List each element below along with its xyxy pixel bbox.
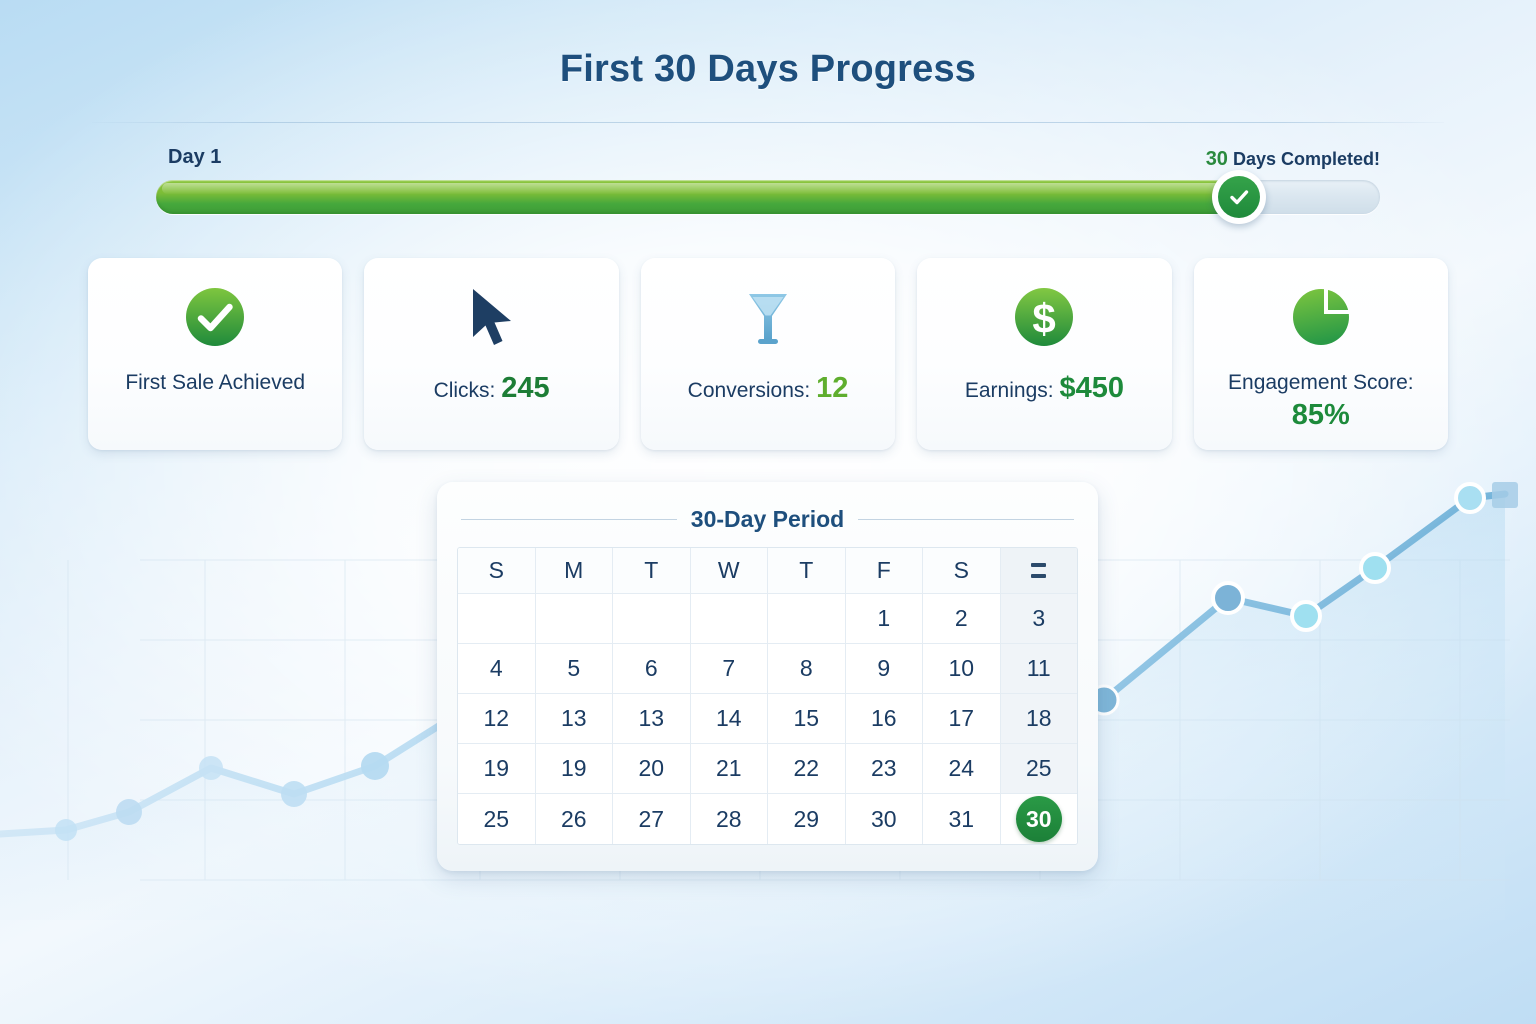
stat-card-label: First Sale Achieved <box>125 371 305 394</box>
stat-card-engagement[interactable]: Engagement Score: 85% <box>1194 258 1448 450</box>
calendar-day-cell[interactable]: 17 <box>923 694 1001 744</box>
weekday-header-extra <box>1001 548 1078 594</box>
weekday-header: M <box>536 548 614 594</box>
progress-track[interactable] <box>156 180 1380 214</box>
calendar-title: 30-Day Period <box>691 506 844 533</box>
calendar-day-cell[interactable]: 9 <box>846 644 924 694</box>
calendar-day-cell[interactable]: 2 <box>923 594 1001 644</box>
calendar-day-cell[interactable] <box>691 594 769 644</box>
stat-card-earnings[interactable]: $ Earnings: $450 <box>917 258 1171 450</box>
weekday-header: T <box>613 548 691 594</box>
calendar-day-cell[interactable]: 4 <box>458 644 536 694</box>
calendar-day-cell[interactable]: 30 <box>846 794 924 844</box>
calendar-day-cell[interactable]: 31 <box>923 794 1001 844</box>
calendar-rule-left <box>461 519 677 520</box>
stat-card-value: $450 <box>1059 372 1124 404</box>
progress-end-text: Days Completed! <box>1233 149 1380 169</box>
calendar-day-cell[interactable]: 24 <box>923 744 1001 794</box>
stat-card-value: 245 <box>501 372 549 404</box>
stat-card-text: Conversions: 12 <box>684 370 853 407</box>
calendar-day-cell[interactable]: 25 <box>1001 744 1078 794</box>
calendar-card: 30-Day Period S M T W T F S <box>437 482 1098 871</box>
calendar-week-row: 4 5 6 7 8 9 10 11 <box>458 644 1077 694</box>
calendar-day-cell[interactable] <box>536 594 614 644</box>
calendar-day-cell[interactable]: 10 <box>923 644 1001 694</box>
stat-card-value: 12 <box>816 372 848 404</box>
calendar-day-cell[interactable]: 15 <box>768 694 846 744</box>
stat-card-text: Earnings: $450 <box>961 370 1128 407</box>
calendar-week-row: 19 19 20 21 22 23 24 25 <box>458 744 1077 794</box>
dollar-circle-icon: $ <box>1013 284 1075 350</box>
calendar-grid: S M T W T F S 1 2 3 <box>457 547 1078 845</box>
progress-labels: Day 1 30 Days Completed! <box>156 146 1380 180</box>
stat-card-first-sale[interactable]: First Sale Achieved <box>88 258 342 450</box>
dashboard-root: First 30 Days Progress Day 1 30 Days Com… <box>0 0 1536 1024</box>
calendar-day-cell[interactable]: 19 <box>458 744 536 794</box>
calendar-day-cell[interactable]: 13 <box>536 694 614 744</box>
stat-card-text: First Sale Achieved <box>121 370 309 397</box>
calendar-day-cell[interactable]: 27 <box>613 794 691 844</box>
stat-card-conversions[interactable]: Conversions: 12 <box>641 258 895 450</box>
calendar-day-cell[interactable]: 6 <box>613 644 691 694</box>
svg-text:$: $ <box>1033 295 1056 342</box>
stat-card-clicks[interactable]: Clicks: 245 <box>364 258 618 450</box>
calendar-day-cell[interactable]: 23 <box>846 744 924 794</box>
progress-end-label: 30 Days Completed! <box>1206 148 1380 171</box>
progress-end-count: 30 <box>1206 148 1228 170</box>
calendar-rule-right <box>858 519 1074 520</box>
header-divider <box>92 122 1444 123</box>
check-circle-icon <box>184 284 246 350</box>
stat-card-label: Engagement Score: <box>1228 371 1414 394</box>
progress-fill <box>156 180 1239 214</box>
calendar-day-cell[interactable]: 25 <box>458 794 536 844</box>
calendar-day-cell[interactable]: 11 <box>1001 644 1078 694</box>
stat-card-text: Clicks: 245 <box>430 370 554 407</box>
calendar-day-cell[interactable]: 8 <box>768 644 846 694</box>
calendar-day-cell[interactable]: 20 <box>613 744 691 794</box>
page-title: First 30 Days Progress <box>0 48 1536 91</box>
weekday-header: W <box>691 548 769 594</box>
check-icon <box>1218 176 1260 218</box>
calendar-day-cell[interactable]: 12 <box>458 694 536 744</box>
calendar-day-cell[interactable]: 1 <box>846 594 924 644</box>
calendar-day-cell[interactable]: 18 <box>1001 694 1078 744</box>
calendar-day-cell[interactable]: 29 <box>768 794 846 844</box>
calendar-day-cell[interactable]: 16 <box>846 694 924 744</box>
progress-start-label: Day 1 <box>168 146 221 169</box>
calendar-day-cell[interactable] <box>458 594 536 644</box>
progress-knob[interactable] <box>1212 170 1266 224</box>
stat-card-value: 85% <box>1292 399 1350 431</box>
calendar-day-cell[interactable]: 26 <box>536 794 614 844</box>
weekday-header: S <box>458 548 536 594</box>
calendar-day-cell[interactable]: 28 <box>691 794 769 844</box>
stat-card-label: Earnings: <box>965 379 1054 402</box>
funnel-icon <box>739 284 797 350</box>
calendar-day-cell[interactable]: 21 <box>691 744 769 794</box>
stat-card-label: Conversions: <box>688 379 811 402</box>
calendar-day-cell[interactable]: 14 <box>691 694 769 744</box>
stat-card-label: Clicks: <box>434 379 496 402</box>
progress-section: Day 1 30 Days Completed! <box>156 146 1380 214</box>
calendar-week-row: 25 26 27 28 29 30 31 30 <box>458 794 1077 844</box>
calendar-day-cell[interactable]: 13 <box>613 694 691 744</box>
calendar-day-cell[interactable]: 22 <box>768 744 846 794</box>
calendar-title-row: 30-Day Period <box>457 500 1078 547</box>
weekday-header: T <box>768 548 846 594</box>
stat-card-text: Engagement Score: 85% <box>1206 370 1436 434</box>
stat-card-row: First Sale Achieved Clicks: 245 <box>88 258 1448 450</box>
weekday-header: S <box>923 548 1001 594</box>
calendar-day-cell[interactable]: 5 <box>536 644 614 694</box>
pie-chart-icon <box>1289 284 1353 350</box>
calendar-day-cell[interactable]: 19 <box>536 744 614 794</box>
calendar-day-cell-today[interactable]: 30 <box>1001 794 1078 844</box>
cursor-arrow-icon <box>463 284 521 350</box>
equals-glyph-icon <box>1031 563 1046 578</box>
calendar-week-row: 1 2 3 <box>458 594 1077 644</box>
calendar-day-cell[interactable]: 3 <box>1001 594 1078 644</box>
calendar-week-row: 12 13 13 14 15 16 17 18 <box>458 694 1077 744</box>
today-badge: 30 <box>1016 796 1062 842</box>
calendar-header-row: S M T W T F S <box>458 548 1077 594</box>
weekday-header: F <box>846 548 924 594</box>
calendar-day-cell[interactable]: 7 <box>691 644 769 694</box>
calendar-day-cell[interactable] <box>768 594 846 644</box>
calendar-day-cell[interactable] <box>613 594 691 644</box>
